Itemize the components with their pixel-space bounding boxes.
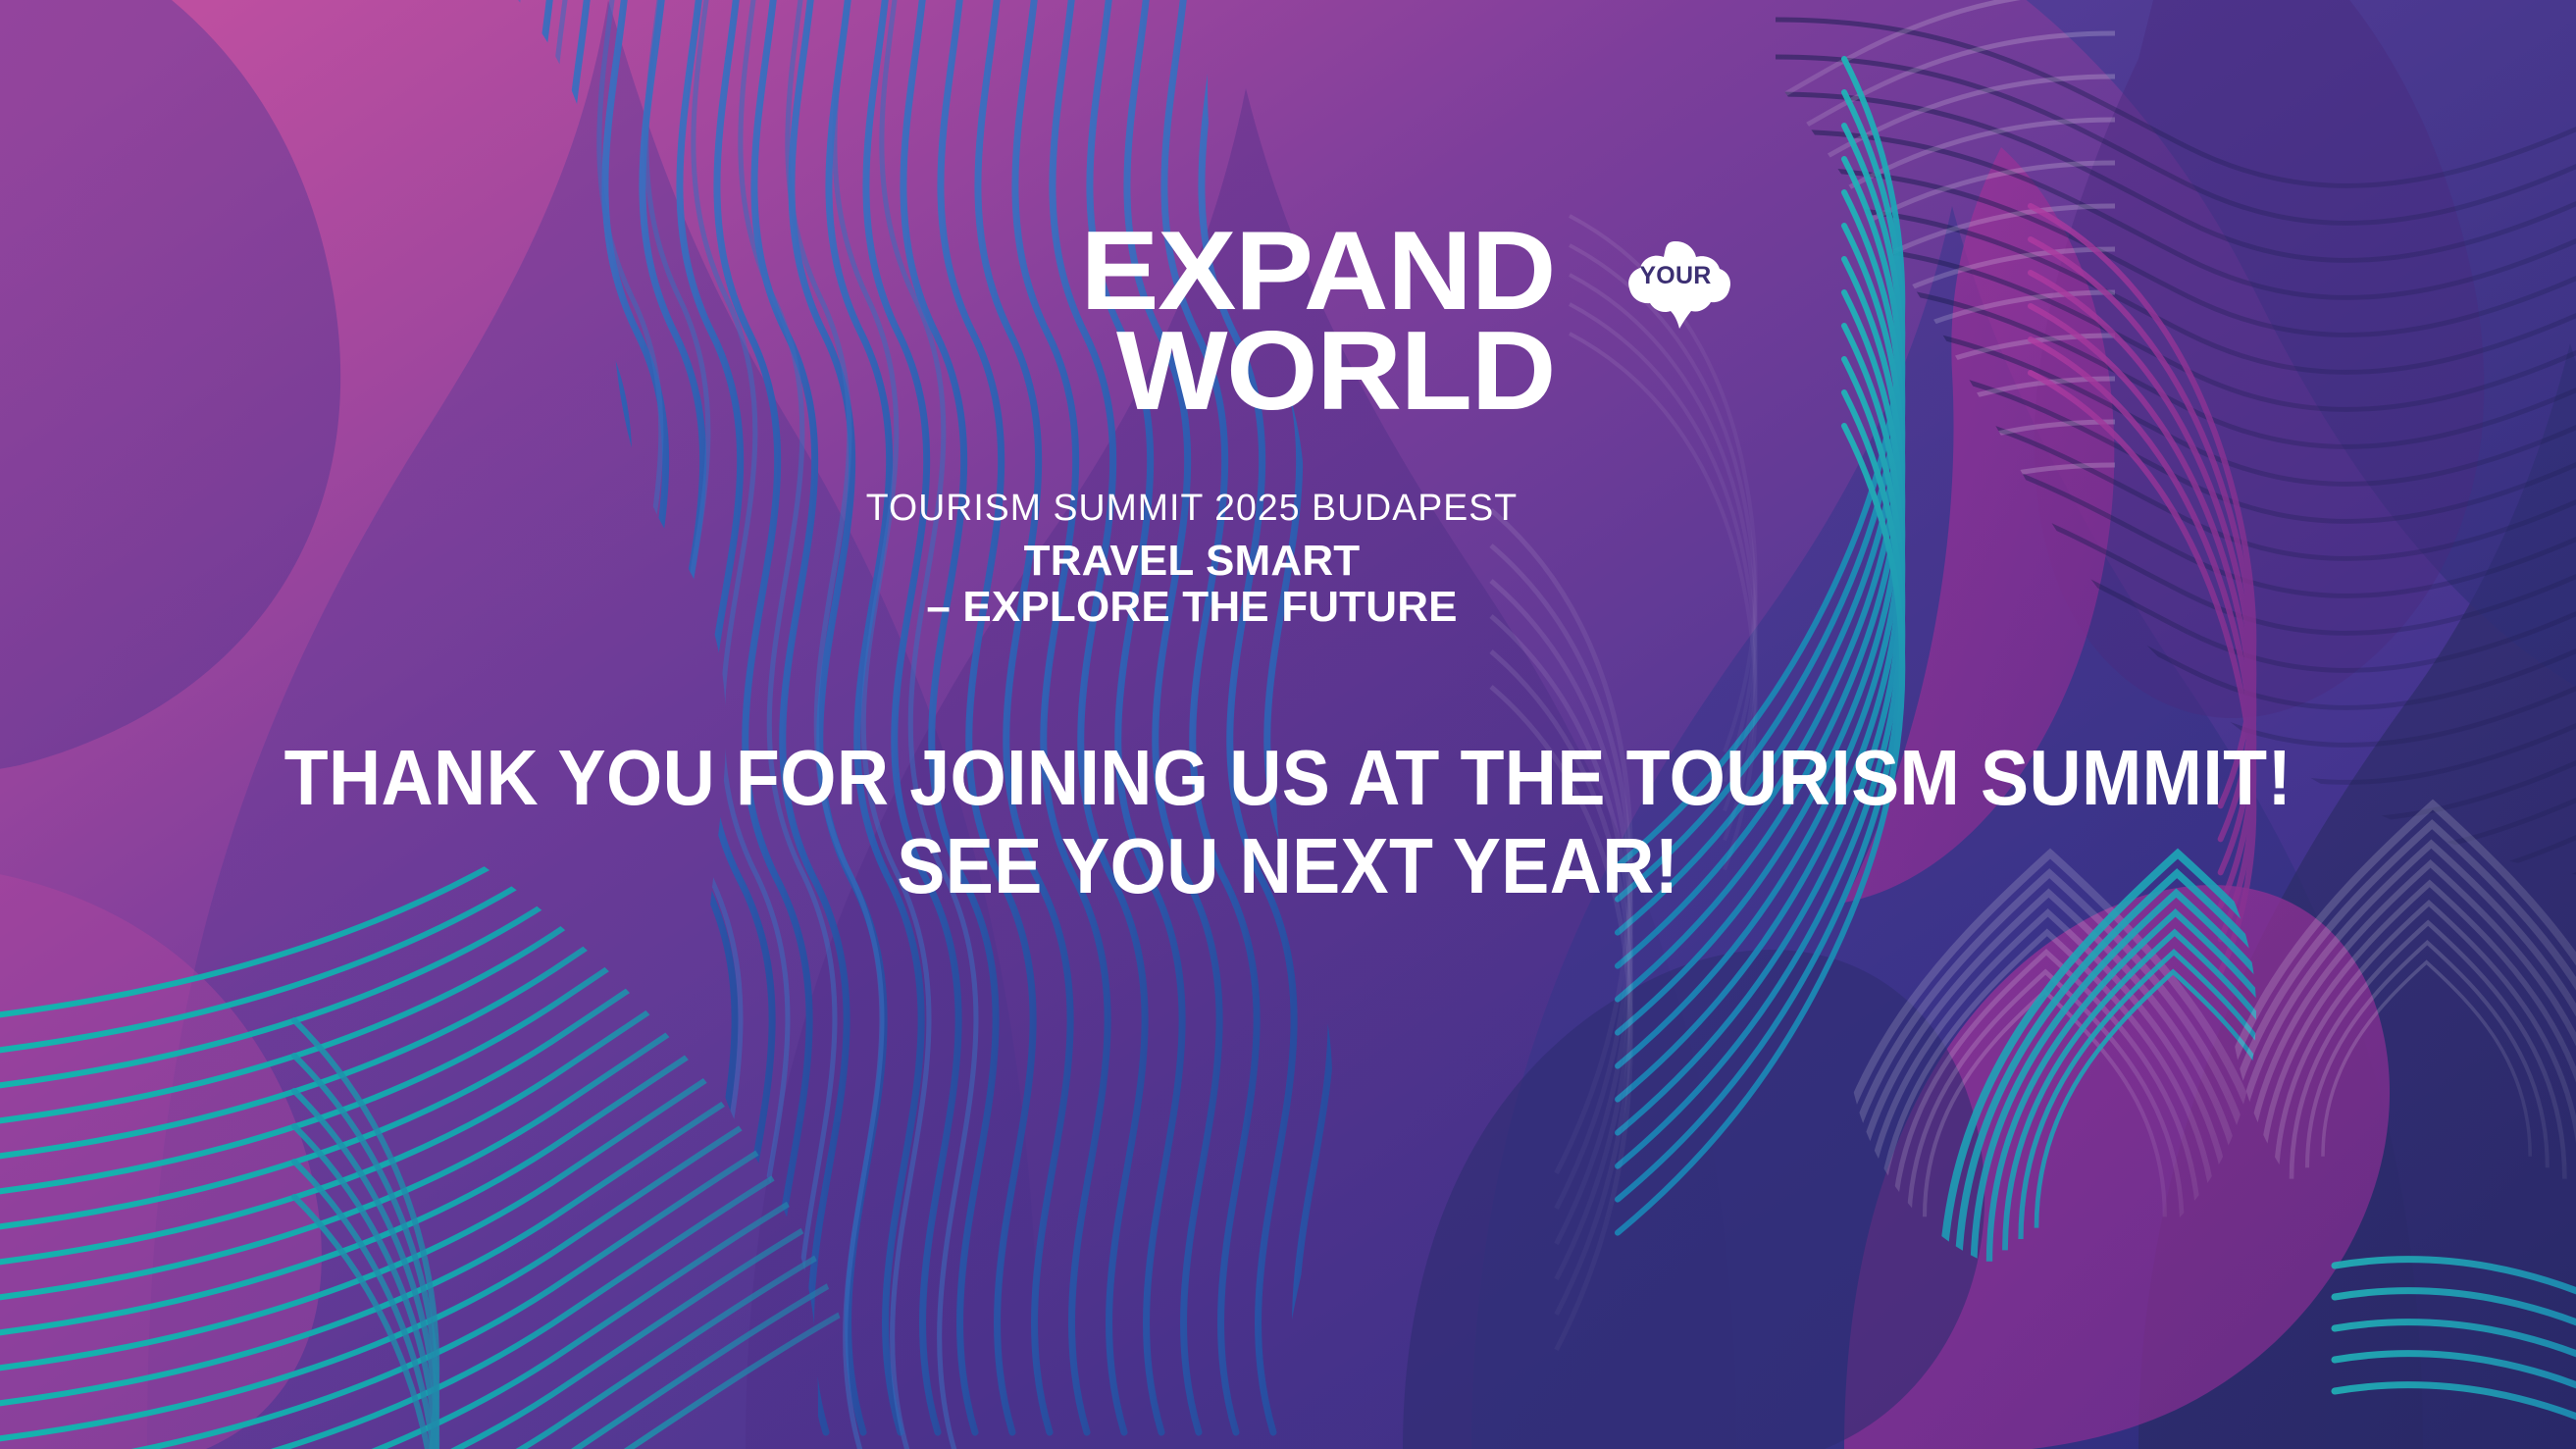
your-badge-label: YOUR xyxy=(1618,264,1733,288)
your-cloud-badge: YOUR xyxy=(1618,238,1733,329)
background-artwork xyxy=(0,0,2576,1449)
poster-canvas: EXPAND WORLD YOUR TOURISM SUMMIT 2025 BU… xyxy=(0,0,2576,1449)
decorative-background xyxy=(0,0,2576,1449)
